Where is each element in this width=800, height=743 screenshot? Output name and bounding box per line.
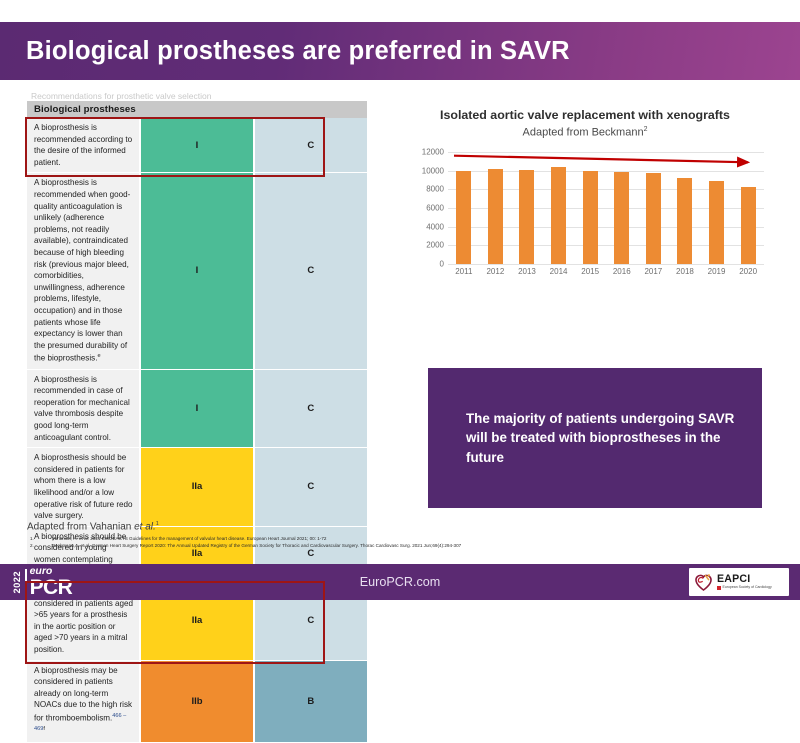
- y-axis-tick-label: 10000: [422, 166, 444, 175]
- class-of-recommendation-cell: IIa: [140, 448, 253, 527]
- page-title: Biological prostheses are preferred in S…: [26, 37, 570, 66]
- y-axis-tick-label: 4000: [426, 222, 444, 231]
- key-message-text: The majority of patients undergoing SAVR…: [466, 409, 748, 468]
- x-axis-tick-label: 2016: [607, 267, 637, 276]
- x-axis-tick-label: 2017: [638, 267, 668, 276]
- esc-logo-mark: [717, 586, 721, 590]
- slide-title-bar: Biological prostheses are preferred in S…: [0, 22, 800, 80]
- chart-title: Isolated aortic valve replacement with x…: [410, 108, 760, 122]
- recommendation-text: A bioprosthesis is recommended in case o…: [27, 369, 140, 448]
- table-row: A bioprosthesis should be considered in …: [27, 448, 367, 527]
- table-header-label: Biological prostheses: [27, 101, 367, 118]
- chart-subtitle: Adapted from Beckmann2: [410, 126, 760, 139]
- table-row: A bioprosthesis is recommended according…: [27, 118, 367, 173]
- reference-superscript: 466 – 469: [34, 713, 126, 732]
- key-message-callout: The majority of patients undergoing SAVR…: [428, 368, 762, 508]
- class-of-recommendation-cell: I: [140, 118, 253, 173]
- slide-footer: 2022 euro PCR EuroPCR.com EAPCI European…: [0, 564, 800, 600]
- level-of-evidence-cell: C: [254, 448, 367, 527]
- bar-chart: 020004000600080001000012000 201120122013…: [408, 152, 776, 292]
- recommendation-text: A bioprosthesis may be considered in pat…: [27, 660, 140, 742]
- reference-list: 1.Vahanian, A. et al. 2021 ESC/EACTS Gui…: [30, 535, 792, 550]
- source-note-text: Adapted from Vahanian: [27, 521, 134, 532]
- reference-index: 2.: [30, 542, 52, 549]
- x-axis-tick-label: 2012: [480, 267, 510, 276]
- class-of-recommendation-cell: I: [140, 369, 253, 448]
- class-of-recommendation-cell: I: [140, 173, 253, 369]
- eapci-subtitle: European Society of Cardiology: [717, 586, 772, 590]
- reference-index: 1.: [30, 535, 52, 542]
- x-axis-tick-label: 2014: [544, 267, 574, 276]
- y-axis-tick-label: 6000: [426, 204, 444, 213]
- y-axis-tick-label: 2000: [426, 241, 444, 250]
- footnote-superscript: e: [97, 353, 100, 359]
- y-axis-tick-label: 8000: [426, 185, 444, 194]
- level-of-evidence-cell: B: [254, 660, 367, 742]
- x-axis-tick-label: 2011: [449, 267, 479, 276]
- y-axis-labels: 020004000600080001000012000: [408, 152, 444, 264]
- x-axis-tick-label: 2015: [575, 267, 605, 276]
- recommendation-text: A bioprosthesis should be considered in …: [27, 448, 140, 527]
- recommendation-text: A bioprosthesis is recommended when good…: [27, 173, 140, 369]
- table-source-note: Adapted from Vahanian et al.1: [27, 521, 159, 532]
- eapci-logo: EAPCI European Society of Cardiology: [689, 568, 789, 596]
- y-axis-tick-label: 12000: [422, 148, 444, 157]
- eapci-name: EAPCI: [717, 574, 772, 585]
- table-header-row: Biological prostheses: [27, 101, 367, 118]
- level-of-evidence-cell: C: [254, 118, 367, 173]
- class-of-recommendation-cell: IIb: [140, 660, 253, 742]
- x-axis-tick-label: 2018: [670, 267, 700, 276]
- reference-text: Beckmann,A. et al. German Heart Surgery …: [52, 542, 461, 549]
- eapci-subtitle-text: European Society of Cardiology: [723, 586, 772, 590]
- footer-website: EuroPCR.com: [0, 575, 800, 589]
- reference-item: 2.Beckmann,A. et al. German Heart Surger…: [30, 542, 792, 549]
- trend-arrow-icon: [448, 152, 768, 264]
- y-axis-tick-label: 0: [440, 260, 444, 269]
- eapci-text-block: EAPCI European Society of Cardiology: [717, 574, 772, 590]
- source-note-italic: et al.: [134, 521, 156, 532]
- recommendation-text: A bioprosthesis is recommended according…: [27, 118, 140, 173]
- heart-icon: [694, 573, 713, 592]
- chart-subtitle-superscript: 2: [644, 126, 648, 133]
- x-axis-tick-label: 2013: [512, 267, 542, 276]
- reference-text: Vahanian, A. et al. 2021 ESC/EACTS Guide…: [52, 535, 326, 542]
- source-note-superscript: 1: [156, 521, 159, 527]
- reference-item: 1.Vahanian, A. et al. 2021 ESC/EACTS Gui…: [30, 535, 792, 542]
- level-of-evidence-cell: C: [254, 369, 367, 448]
- footnote-superscript: f: [43, 726, 45, 732]
- table-row: A bioprosthesis may be considered in pat…: [27, 660, 367, 742]
- x-axis-tick-label: 2019: [702, 267, 732, 276]
- table-cropped-caption: Recommendations for prosthetic valve sel…: [27, 92, 367, 101]
- gridline: [448, 264, 764, 265]
- x-axis-labels: 2011201220132014201520162017201820192020: [448, 267, 764, 276]
- chart-subtitle-text: Adapted from Beckmann: [523, 127, 644, 139]
- x-axis-tick-label: 2020: [733, 267, 763, 276]
- table-row: A bioprosthesis is recommended when good…: [27, 173, 367, 369]
- level-of-evidence-cell: C: [254, 173, 367, 369]
- guidelines-table-container: Recommendations for prosthetic valve sel…: [27, 92, 367, 743]
- guidelines-table: Biological prosthesesA bioprosthesis is …: [27, 101, 367, 743]
- table-row: A bioprosthesis is recommended in case o…: [27, 369, 367, 448]
